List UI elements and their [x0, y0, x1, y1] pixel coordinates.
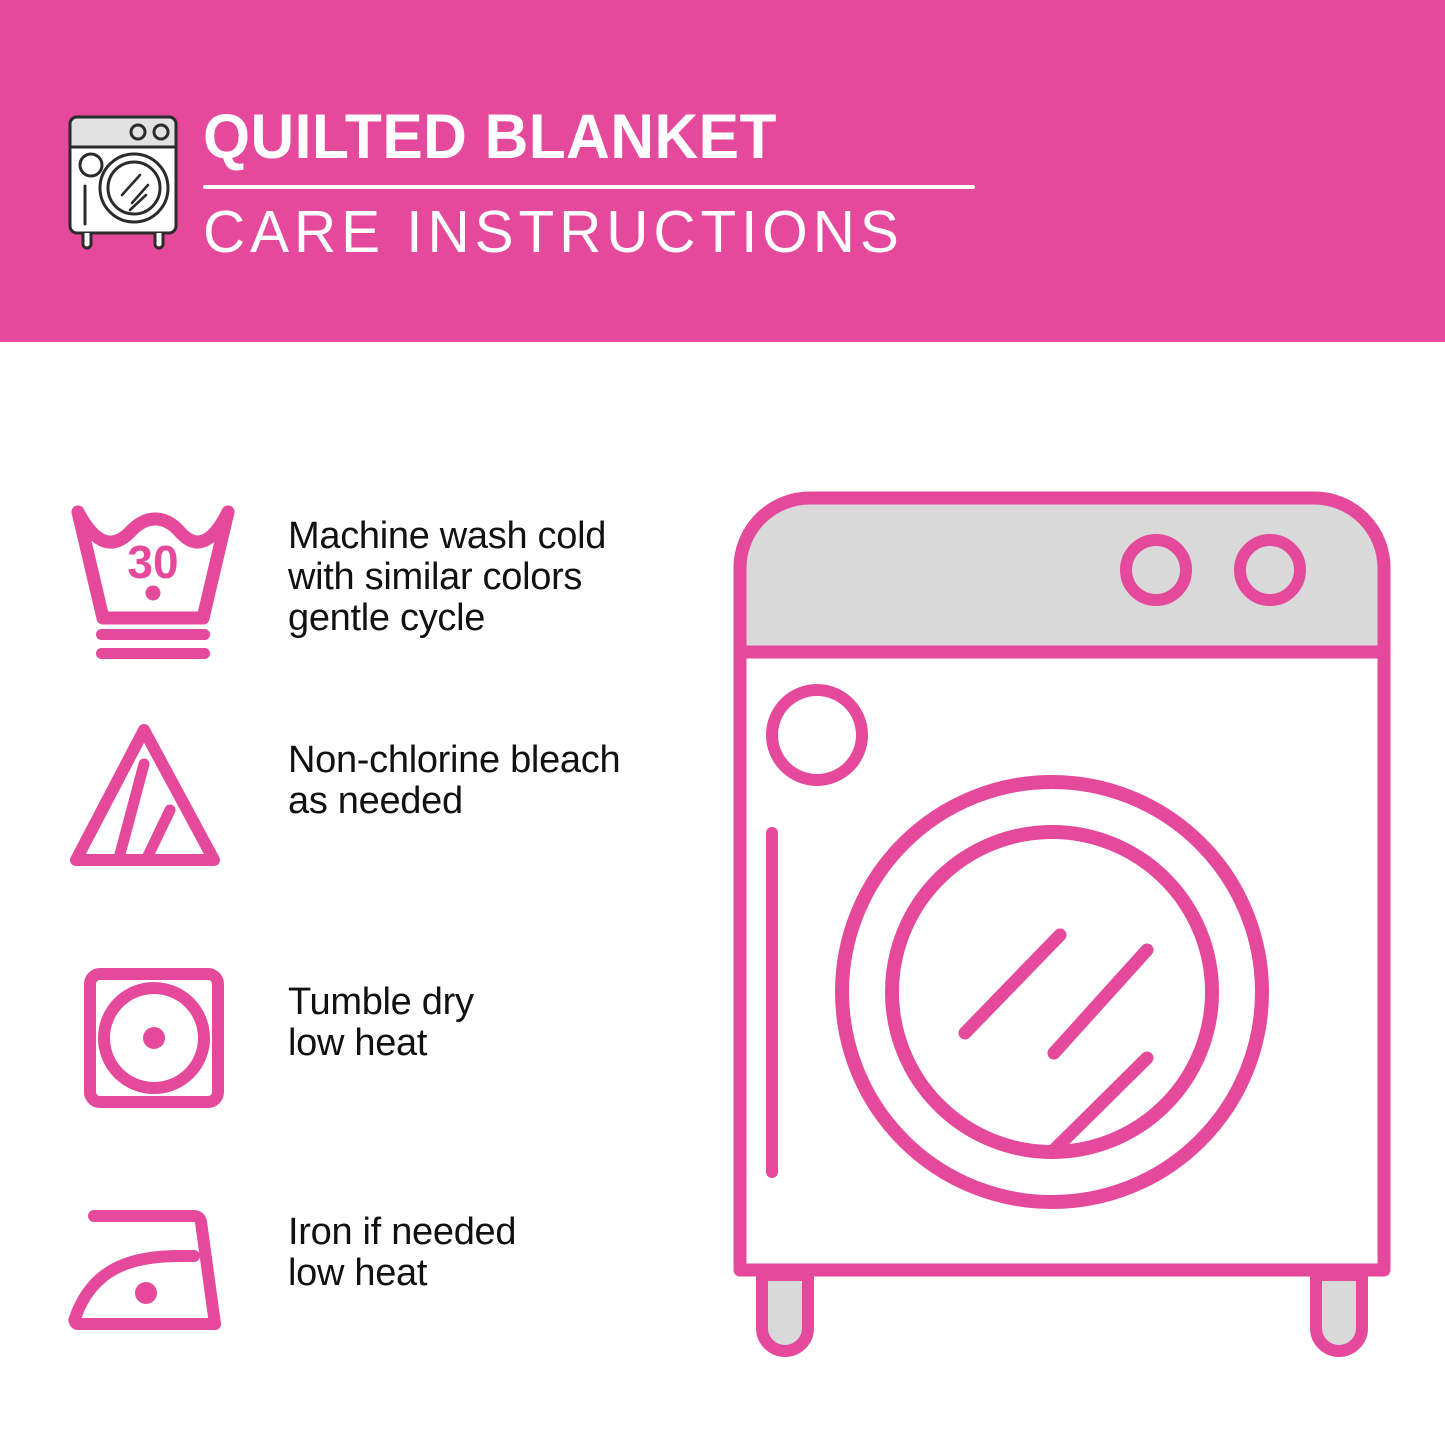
- care-symbol-list: 30 Machine wash cold with similar colors…: [0, 430, 700, 1342]
- machine-knob-left: [1126, 540, 1186, 600]
- machine-leg-left: [762, 1275, 808, 1351]
- care-text-line: as needed: [288, 781, 688, 822]
- machine-leg-right: [1316, 1275, 1362, 1351]
- care-text-line: Iron if needed: [288, 1212, 688, 1253]
- care-text-line: low heat: [288, 1023, 688, 1064]
- care-text-line: with similar colors: [288, 557, 688, 598]
- machine-drum-inner: [892, 832, 1212, 1152]
- page-title: QUILTED BLANKET: [203, 102, 961, 172]
- header-banner: QUILTED BLANKET CARE INSTRUCTIONS: [0, 0, 1445, 342]
- front-load-washing-machine-illustration: [722, 480, 1402, 1370]
- care-row-tumble-dry-label: Tumble dry low heat: [288, 982, 688, 1064]
- washing-machine-icon: [58, 103, 194, 251]
- tumble-dry-low-icon: [62, 958, 252, 1128]
- care-row-bleach-label: Non-chlorine bleach as needed: [288, 740, 688, 822]
- page-subtitle: CARE INSTRUCTIONS: [203, 200, 985, 264]
- care-text-line: low heat: [288, 1253, 688, 1294]
- care-row-tumble-dry: Tumble dry low heat: [0, 886, 700, 1114]
- machine-knob-right: [1240, 540, 1300, 600]
- wash-tub-30-icon: 30: [62, 498, 252, 668]
- title-divider: [203, 185, 975, 189]
- machine-indicator-light: [772, 690, 862, 780]
- care-row-iron: Iron if needed low heat: [0, 1114, 700, 1342]
- care-row-machine-wash: 30 Machine wash cold with similar colors…: [0, 430, 700, 658]
- care-text-line: Non-chlorine bleach: [288, 740, 688, 781]
- header-title-block: QUILTED BLANKET CARE INSTRUCTIONS: [203, 102, 993, 264]
- care-text-line: Tumble dry: [288, 982, 688, 1023]
- care-text-line: Machine wash cold: [288, 516, 688, 557]
- care-text-line: gentle cycle: [288, 598, 688, 639]
- wash-temp-label: 30: [127, 536, 178, 588]
- care-row-iron-label: Iron if needed low heat: [288, 1212, 688, 1294]
- bleach-triangle-icon: [62, 718, 252, 888]
- care-instructions-infographic: QUILTED BLANKET CARE INSTRUCTIONS 30: [0, 0, 1445, 1445]
- iron-low-icon: [62, 1192, 252, 1362]
- care-row-bleach: Non-chlorine bleach as needed: [0, 658, 700, 886]
- care-row-machine-wash-label: Machine wash cold with similar colors ge…: [288, 516, 688, 639]
